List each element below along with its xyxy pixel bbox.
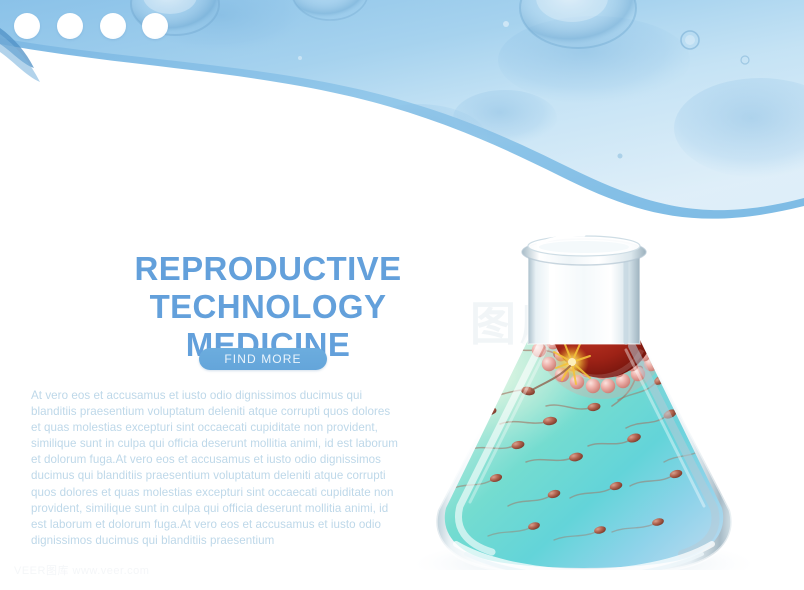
sperm-cell: [462, 364, 511, 375]
headline-line-1: REPRODUCTIVE TECHNOLOGY: [135, 250, 402, 325]
wave-dot-4: [142, 13, 168, 39]
flask-neck: [528, 252, 640, 344]
wave-dot-1: [14, 13, 40, 39]
poster-canvas: REPRODUCTIVE TECHNOLOGY MEDICINE FIND MO…: [0, 0, 804, 590]
stock-watermark: VEER图库 www.veer.com: [14, 562, 149, 578]
wave-dot-2: [57, 13, 83, 39]
wave-dot-3: [100, 13, 126, 39]
body-paragraph: At vero eos et accusamus et iusto odio d…: [31, 388, 399, 549]
find-more-button[interactable]: FIND MORE: [199, 348, 327, 370]
flask-rim: [522, 235, 646, 265]
find-more-label: FIND MORE: [224, 352, 301, 366]
flask-graphic: [404, 140, 764, 570]
erlenmeyer-flask-illustration: [404, 140, 764, 570]
